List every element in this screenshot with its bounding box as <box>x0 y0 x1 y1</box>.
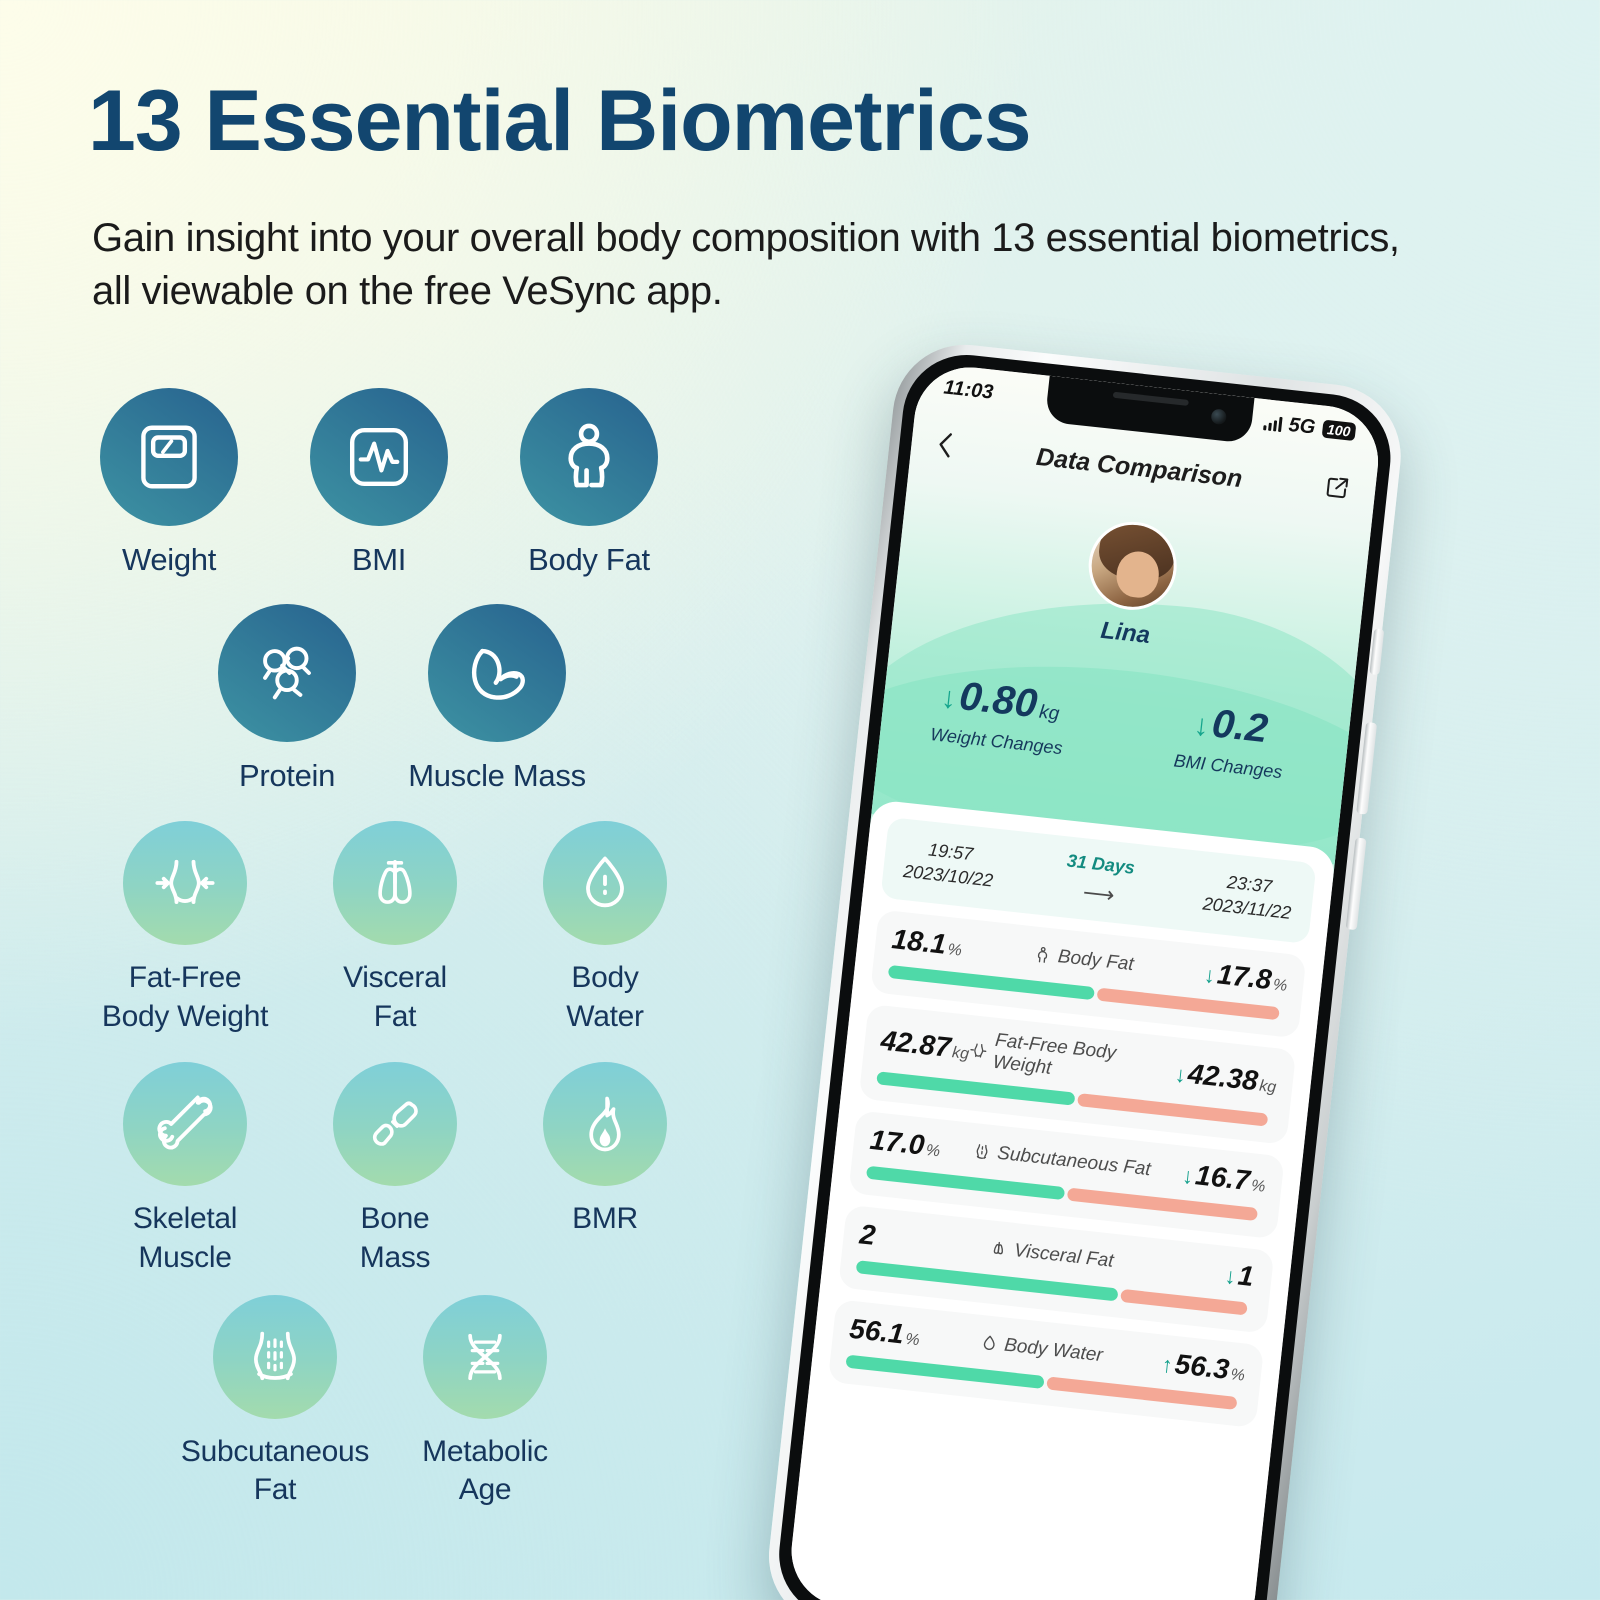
biometric-label: Body Water <box>566 959 643 1036</box>
biometric-bone-mass[interactable]: Bone Mass <box>290 1062 500 1277</box>
trend-arrow-icon: ↓ <box>1174 1061 1188 1088</box>
trend-arrow-icon: ↓ <box>939 681 958 716</box>
metric-name: Fat-Free Body Weight <box>992 1030 1178 1093</box>
water-drop-icon <box>543 821 667 945</box>
body-figure-icon <box>520 388 658 526</box>
metric-name: Subcutaneous Fat <box>996 1142 1152 1181</box>
biometric-protein[interactable]: Protein <box>182 604 392 796</box>
biometric-fat-free-body-weight[interactable]: Fat-Free Body Weight <box>80 821 290 1036</box>
stat-value: 0.2 <box>1210 701 1270 752</box>
metric-start-value: 56.1 <box>848 1313 906 1351</box>
metric-unit: % <box>904 1331 920 1350</box>
flexed-arm-icon <box>428 604 566 742</box>
metric-unit: % <box>1250 1177 1266 1196</box>
joint-bones-icon <box>333 1062 457 1186</box>
lungs-icon <box>333 821 457 945</box>
icon-row: Fat-Free Body Weight Visceral Fat Body <box>80 821 740 1036</box>
metric-start-value: 2 <box>858 1218 877 1251</box>
stat-unit: kg <box>1038 702 1060 726</box>
biometric-body-fat[interactable]: Body Fat <box>484 388 694 580</box>
biometric-label: Visceral Fat <box>343 959 447 1036</box>
biometric-metabolic-age[interactable]: Metabolic Age <box>380 1295 590 1510</box>
share-button[interactable] <box>1324 474 1351 505</box>
metric-start-value-group: 17.0 % <box>868 1124 942 1163</box>
metric-start-value-group: 2 <box>858 1218 879 1252</box>
metric-start-value: 17.0 <box>868 1124 926 1162</box>
visceral-icon <box>988 1238 1009 1259</box>
body-fat-icon <box>1032 944 1053 965</box>
profile-name: Lina <box>1099 617 1151 650</box>
metric-start-value-group: 18.1 % <box>890 923 964 962</box>
pulse-icon <box>310 388 448 526</box>
dna-icon <box>423 1295 547 1419</box>
biometric-label: Body Fat <box>528 540 650 580</box>
icon-row: Weight BMI Body Fat <box>64 388 740 580</box>
chevron-left-icon <box>936 430 955 460</box>
icon-row: Protein Muscle Mass <box>182 604 740 796</box>
metric-unit: % <box>1230 1366 1246 1385</box>
biometric-skeletal-muscle[interactable]: Skeletal Muscle <box>80 1062 290 1277</box>
date-range-duration: 31 Days ⟶ <box>1062 851 1135 911</box>
water-drop-icon <box>978 1333 999 1354</box>
metric-unit: kg <box>1258 1077 1277 1097</box>
trend-arrow-icon: ↓ <box>1192 708 1211 743</box>
comparison-sheet: 19:57 2023/10/22 31 Days ⟶ 23:37 2023/11… <box>786 799 1336 1600</box>
page-title: 13 Essential Biometrics <box>88 78 1031 164</box>
metric-start-value: 18.1 <box>890 923 948 961</box>
metric-end-value: 1 <box>1236 1259 1255 1292</box>
battery-icon: 100 <box>1321 420 1356 441</box>
metric-end-value-group: ↓ 42.38 kg <box>1174 1056 1279 1099</box>
biometric-label: Skeletal Muscle <box>133 1200 237 1277</box>
trend-arrow-icon: ↓ <box>1181 1163 1195 1190</box>
biometric-bmi[interactable]: BMI <box>274 388 484 580</box>
metric-end-value: 42.38 <box>1186 1057 1259 1096</box>
biometric-label: Weight <box>122 540 216 580</box>
bar-end <box>1120 1289 1248 1316</box>
biometric-label: Muscle Mass <box>408 756 586 796</box>
metric-end-value: 16.7 <box>1194 1159 1252 1197</box>
metric-name-group: Subcutaneous Fat <box>971 1140 1152 1181</box>
metric-name: Body Fat <box>1057 946 1135 976</box>
metric-end-value-group: ↑ 56.3 % <box>1160 1347 1247 1388</box>
metric-name-group: Visceral Fat <box>988 1237 1115 1272</box>
biometric-muscle-mass[interactable]: Muscle Mass <box>392 604 602 796</box>
metric-start-value: 42.87 <box>879 1024 952 1063</box>
phone-mockup: 11:03 5G 100 Data Comparison <box>592 291 1490 1600</box>
biometric-visceral-fat[interactable]: Visceral Fat <box>290 821 500 1036</box>
metric-name: Visceral Fat <box>1013 1240 1115 1273</box>
date-range-start: 19:57 2023/10/22 <box>902 836 997 892</box>
metric-unit: kg <box>951 1044 970 1064</box>
metric-unit: % <box>1272 976 1288 995</box>
biometric-label: Protein <box>239 756 335 796</box>
arrow-right-icon: ⟶ <box>1062 877 1132 910</box>
metric-end-value: 56.3 <box>1173 1348 1231 1386</box>
network-type: 5G <box>1288 413 1317 439</box>
bone-icon <box>123 1062 247 1186</box>
date-range-end: 23:37 2023/11/22 <box>1202 869 1295 925</box>
trend-arrow-icon: ↓ <box>1203 962 1217 989</box>
metric-unit: % <box>947 941 963 960</box>
biometric-label: BMR <box>572 1200 638 1238</box>
stat-value: 0.80 <box>957 674 1039 727</box>
biometric-label: Bone Mass <box>360 1200 430 1277</box>
torso-icon <box>213 1295 337 1419</box>
metric-end-value-group: ↓ 16.7 % <box>1181 1158 1268 1199</box>
scale-icon <box>100 388 238 526</box>
duration-label: 31 Days <box>1066 851 1136 879</box>
biometric-subcutaneous-fat[interactable]: Subcutaneous Fat <box>170 1295 380 1510</box>
signal-bars-icon <box>1263 415 1283 432</box>
metric-name: Body Water <box>1003 1334 1104 1367</box>
trend-arrow-icon: ↓ <box>1224 1263 1238 1290</box>
metric-name-group: Body Water <box>978 1331 1104 1366</box>
back-button[interactable] <box>936 430 955 465</box>
biometric-label: Fat-Free Body Weight <box>102 959 268 1036</box>
fat-free-icon <box>968 1040 989 1061</box>
molecule-icon <box>218 604 356 742</box>
metric-start-value-group: 42.87 kg <box>879 1024 971 1065</box>
metric-start-value-group: 56.1 % <box>848 1313 922 1352</box>
subcutaneous-icon <box>971 1141 992 1162</box>
biometric-label: Subcutaneous Fat <box>181 1433 369 1510</box>
metric-name-group: Body Fat <box>1032 943 1135 976</box>
metric-name-group: Fat-Free Body Weight <box>967 1027 1178 1093</box>
metric-end-value-group: ↓ 17.8 % <box>1203 957 1290 998</box>
status-time: 11:03 <box>943 376 995 404</box>
waist-arrows-icon <box>123 821 247 945</box>
metric-unit: % <box>925 1142 941 1161</box>
metric-end-value-group: ↓ 1 <box>1223 1258 1257 1293</box>
biometric-label: Metabolic Age <box>422 1433 548 1510</box>
biometric-label: BMI <box>352 540 406 580</box>
metric-end-value: 17.8 <box>1216 958 1274 996</box>
page-title: Data Comparison <box>1035 442 1244 493</box>
biometric-weight[interactable]: Weight <box>64 388 274 580</box>
trend-arrow-icon: ↑ <box>1160 1352 1174 1379</box>
share-icon <box>1324 474 1350 500</box>
